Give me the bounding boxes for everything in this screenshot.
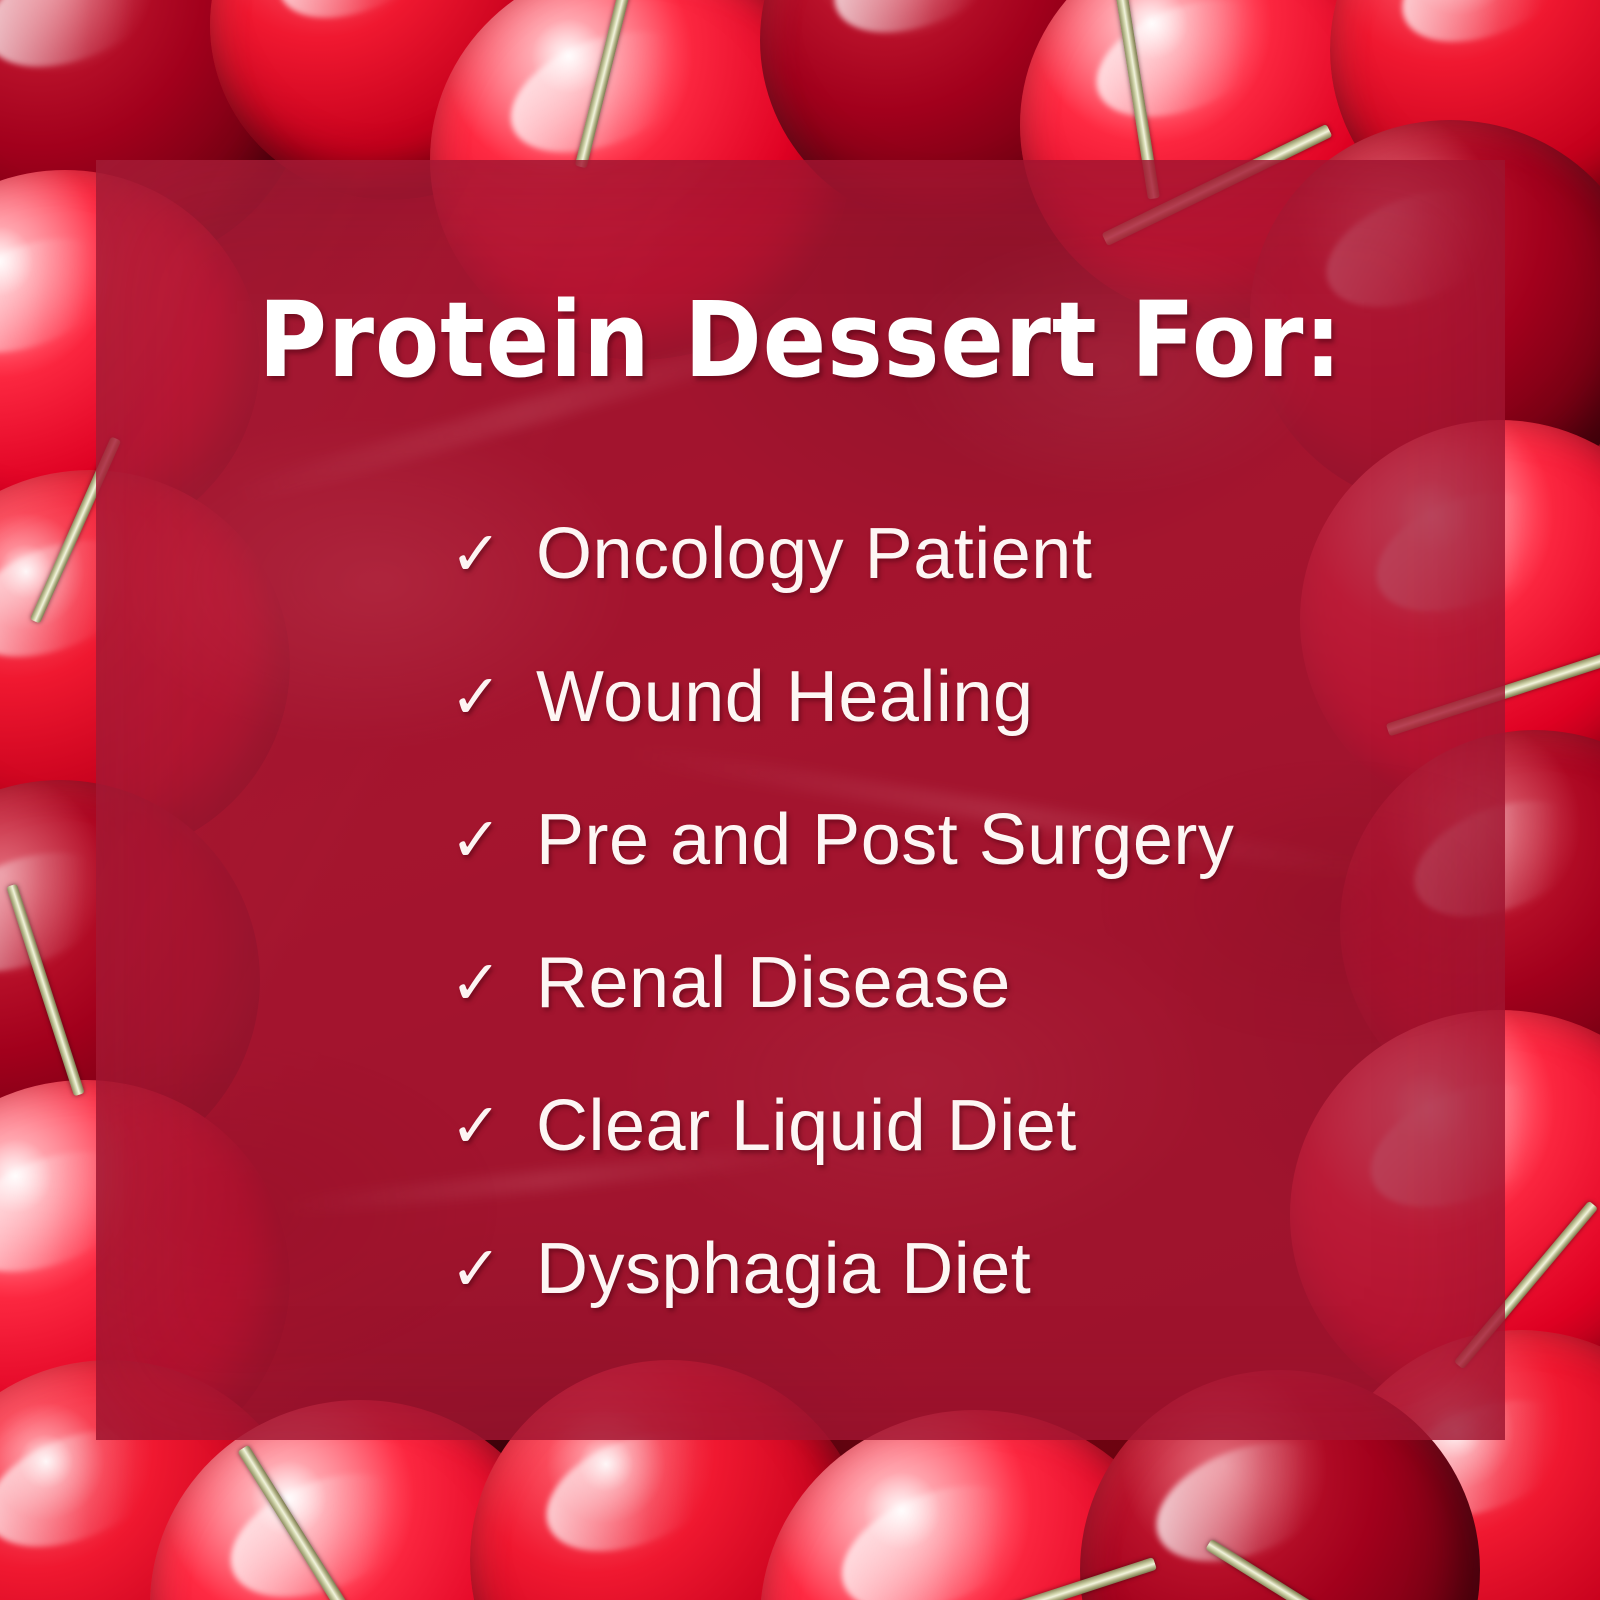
list-item: ✓ Clear Liquid Diet [416, 1054, 1505, 1197]
check-icon: ✓ [416, 952, 536, 1014]
page-title: Protein Dessert For: [166, 288, 1434, 392]
list-item-label: Pre and Post Surgery [536, 804, 1234, 876]
list-item-label: Oncology Patient [536, 518, 1092, 590]
panel-content: Protein Dessert For: ✓ Oncology Patient … [96, 160, 1505, 1440]
list-item: ✓ Pre and Post Surgery [416, 768, 1505, 911]
check-icon: ✓ [416, 1095, 536, 1157]
check-icon: ✓ [416, 1238, 536, 1300]
list-item-label: Renal Disease [536, 947, 1011, 1019]
list-item: ✓ Oncology Patient [416, 482, 1505, 625]
list-item: ✓ Dysphagia Diet [416, 1197, 1505, 1340]
check-icon: ✓ [416, 666, 536, 728]
check-icon: ✓ [416, 523, 536, 585]
benefits-list: ✓ Oncology Patient ✓ Wound Healing ✓ Pre… [416, 482, 1505, 1340]
check-icon: ✓ [416, 809, 536, 871]
list-item: ✓ Renal Disease [416, 911, 1505, 1054]
list-item-label: Clear Liquid Diet [536, 1090, 1077, 1162]
list-item-label: Wound Healing [536, 661, 1034, 733]
poster-canvas: Protein Dessert For: ✓ Oncology Patient … [0, 0, 1600, 1600]
list-item: ✓ Wound Healing [416, 625, 1505, 768]
list-item-label: Dysphagia Diet [536, 1233, 1031, 1305]
overlay-panel: Protein Dessert For: ✓ Oncology Patient … [96, 160, 1505, 1440]
